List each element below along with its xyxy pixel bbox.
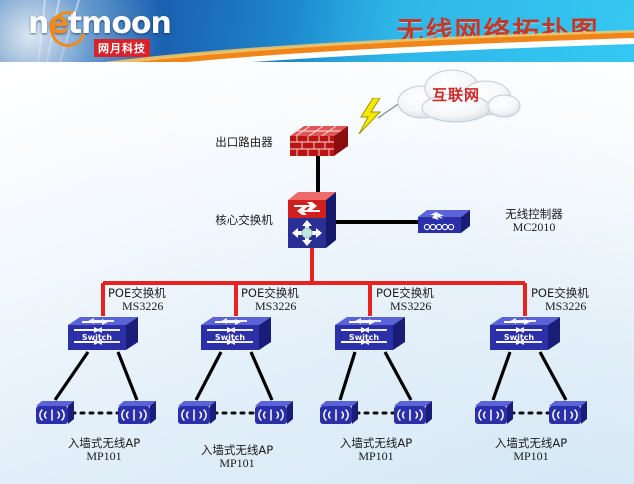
wireless-ap-icon[interactable]	[549, 400, 587, 426]
switch-badge-1: Switch	[82, 333, 112, 342]
ap-group-label-2: 入墙式无线AP MP101	[177, 444, 297, 470]
netmoon-logo: netmoon 网月科技	[28, 9, 188, 57]
topology-page: netmoon 网月科技 无线网络拓扑图	[0, 0, 634, 484]
poe-switch-2[interactable]: Switch	[201, 316, 271, 352]
ap-group-label-1: 入墙式无线AP MP101	[44, 437, 164, 463]
wireless-ap-icon[interactable]	[255, 400, 293, 426]
poe-switch-model-1: MS3226	[108, 300, 198, 313]
ap-group-label-4: 入墙式无线AP MP101	[471, 437, 591, 463]
ap-group-model-2: MP101	[177, 457, 297, 470]
lightning-bolt-icon	[356, 98, 384, 134]
wireless-ap-icon[interactable]	[320, 400, 358, 426]
wireless-ap-icon[interactable]	[178, 400, 216, 426]
internet-label: 互联网	[386, 84, 526, 105]
wireless-ap-icon[interactable]	[394, 400, 432, 426]
logo-text-prefix: n	[28, 6, 48, 41]
page-title: 无线网络拓扑图	[378, 10, 618, 49]
poe-switch-model-3: MS3226	[376, 300, 466, 313]
layer3-switch-icon	[288, 190, 336, 252]
poe-switch-label-3: POE交换机 MS3226	[376, 287, 466, 313]
core-switch-label: 核心交换机	[196, 214, 292, 227]
ap-group-model-4: MP101	[471, 450, 591, 463]
logo-wordmark: netmoon	[28, 9, 188, 39]
poe-switch-label-2: POE交换机 MS3226	[241, 287, 331, 313]
wireless-controller-icon	[418, 209, 470, 237]
ap-group-label-3: 入墙式无线AP MP101	[316, 437, 436, 463]
wireless-ap-icon[interactable]	[475, 400, 513, 426]
wlc-model: MC2010	[478, 221, 590, 234]
logo-chinese-text: 网月科技	[94, 39, 150, 57]
switch-badge-3: Switch	[349, 333, 379, 342]
poe-switch-label-4: POE交换机 MS3226	[531, 287, 621, 313]
poe-switch-model-2: MS3226	[241, 300, 331, 313]
ap-group-model-3: MP101	[316, 450, 436, 463]
wireless-controller-label: 无线控制器 MC2010	[478, 208, 590, 234]
firewall-router-icon	[290, 124, 348, 158]
wireless-ap-icon[interactable]	[118, 400, 156, 426]
ap-group-model-1: MP101	[44, 450, 164, 463]
poe-switch-1[interactable]: Switch	[68, 316, 138, 352]
poe-switch-4[interactable]: Switch	[490, 316, 560, 352]
page-header: netmoon 网月科技 无线网络拓扑图	[0, 0, 634, 66]
switch-badge-2: Switch	[215, 333, 245, 342]
poe-switch-3[interactable]: Switch	[335, 316, 405, 352]
poe-switch-model-4: MS3226	[531, 300, 621, 313]
switch-badge-4: Switch	[504, 333, 534, 342]
poe-switch-label-1: POE交换机 MS3226	[108, 287, 198, 313]
wireless-ap-icon[interactable]	[36, 400, 74, 426]
router-label: 出口路由器	[196, 136, 292, 149]
